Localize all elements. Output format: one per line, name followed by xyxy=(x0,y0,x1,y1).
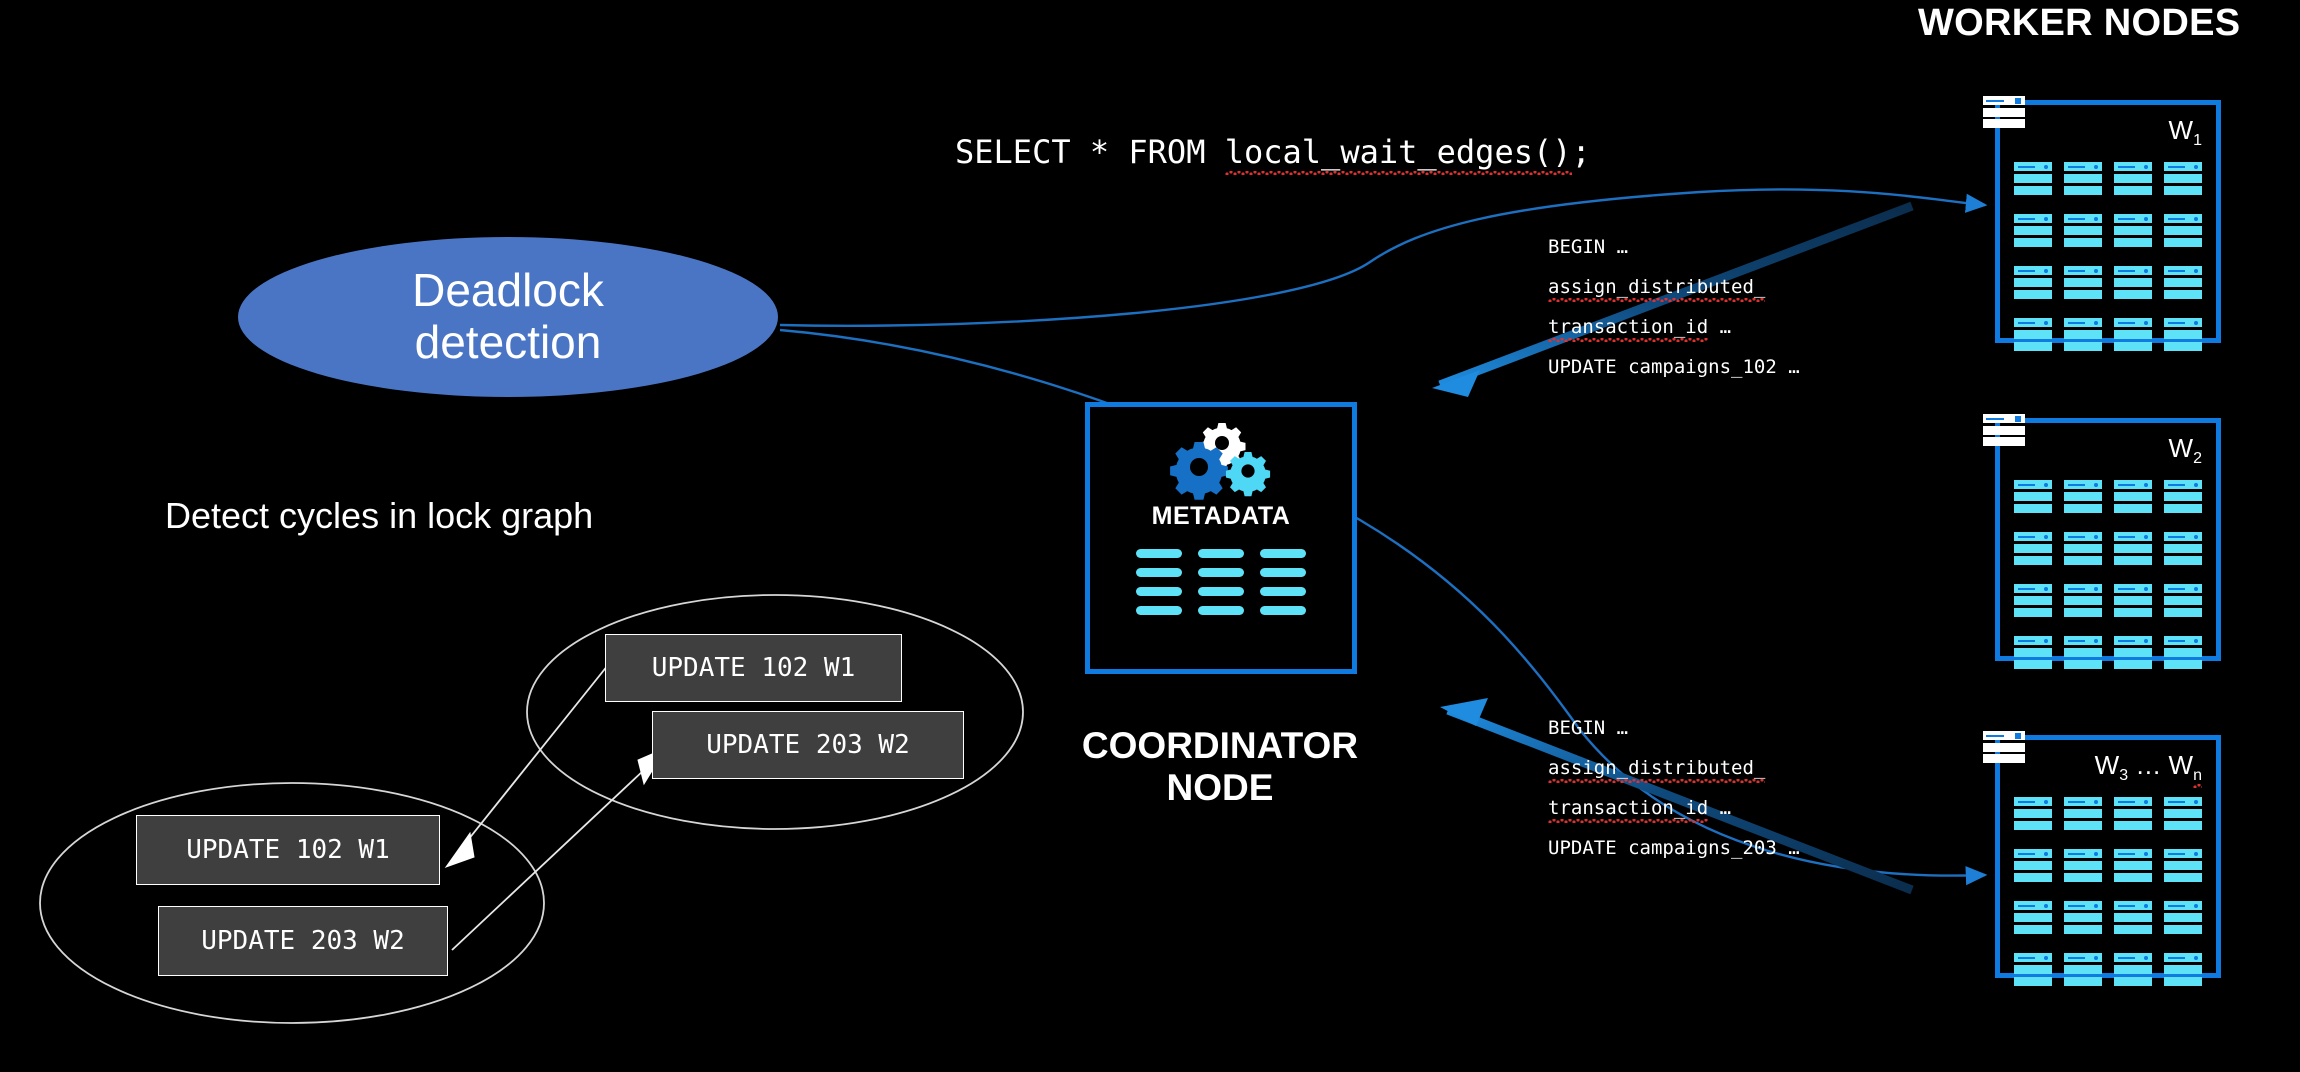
transaction-code-block-1: BEGIN … assign_distributed_ transaction_… xyxy=(1548,227,1800,387)
lock-graph-caption: Detect cycles in lock graph xyxy=(165,495,593,537)
shard xyxy=(2014,849,2052,885)
shard xyxy=(2064,953,2102,989)
shard xyxy=(2114,214,2152,250)
metadata-bar xyxy=(1136,568,1182,577)
shard xyxy=(2114,480,2152,516)
shard xyxy=(2164,162,2202,198)
metadata-bar xyxy=(1260,606,1306,615)
worker-node-3-range: … W xyxy=(2128,750,2193,780)
diagram-canvas: WORKER NODES COORDINATOR NODE SELECT * F… xyxy=(0,0,2300,1072)
shard xyxy=(2014,318,2052,354)
shard xyxy=(2164,584,2202,620)
code-line-begin: BEGIN … xyxy=(1548,708,1800,748)
worker-node-2: W2 xyxy=(1995,418,2221,661)
code-line-assign: assign_distributed_ xyxy=(1548,276,1765,298)
metadata-bar xyxy=(1198,568,1244,577)
metadata-bar xyxy=(1260,587,1306,596)
worker-node-2-label: W2 xyxy=(2169,433,2202,468)
shard xyxy=(2014,266,2052,302)
worker-node-1-shard-grid xyxy=(2014,162,2202,354)
shard xyxy=(2164,480,2202,516)
shard xyxy=(2114,266,2152,302)
shard xyxy=(2114,953,2152,989)
shard xyxy=(2064,318,2102,354)
shard xyxy=(2164,953,2202,989)
metadata-bar xyxy=(1136,606,1182,615)
metadata-bar xyxy=(1260,568,1306,577)
metadata-bars-grid xyxy=(1136,549,1306,615)
cycle-arrow-top-to-bottom xyxy=(446,650,620,867)
metadata-bar xyxy=(1136,587,1182,596)
metadata-bar xyxy=(1198,549,1244,558)
server-stack-icon xyxy=(1983,96,2025,130)
worker-node-3-label: W3 … Wn xyxy=(2095,750,2202,785)
shard xyxy=(2164,636,2202,672)
shard xyxy=(2114,636,2152,672)
worker-node-1-letter: W xyxy=(2169,115,2194,145)
shard xyxy=(2114,584,2152,620)
sql-query-suffix: ; xyxy=(1572,133,1591,171)
shard xyxy=(2064,532,2102,568)
shard xyxy=(2064,584,2102,620)
shard xyxy=(2064,901,2102,937)
worker-node-1: W1 xyxy=(1995,100,2221,343)
code-line-begin: BEGIN … xyxy=(1548,227,1800,267)
lock-graph-box-4-label: UPDATE 203 W2 xyxy=(201,926,405,956)
deadlock-detection-node: Deadlock detection xyxy=(238,237,778,397)
shard xyxy=(2064,214,2102,250)
shard xyxy=(2014,532,2052,568)
lock-graph-box-2-label: UPDATE 203 W2 xyxy=(706,730,910,760)
shard xyxy=(2064,797,2102,833)
shard xyxy=(2164,532,2202,568)
worker-node-1-index: 1 xyxy=(2193,132,2202,149)
shard xyxy=(2164,214,2202,250)
sql-query-prefix: SELECT * FROM xyxy=(955,133,1225,171)
lock-graph-box-1: UPDATE 102 W1 xyxy=(605,634,902,702)
lock-graph-box-2: UPDATE 203 W2 xyxy=(652,711,964,779)
shard xyxy=(2064,266,2102,302)
metadata-bar xyxy=(1136,549,1182,558)
deadlock-detection-line1: Deadlock xyxy=(412,265,604,317)
transaction-code-block-2: BEGIN … assign_distributed_ transaction_… xyxy=(1548,708,1800,868)
sql-query-function: local_wait_edges() xyxy=(1225,133,1572,171)
code-line-txnid-tail: … xyxy=(1708,797,1731,819)
worker-node-2-index: 2 xyxy=(2193,450,2202,467)
curve-to-worker1 xyxy=(780,189,1985,325)
code-line-txnid: transaction_id xyxy=(1548,316,1708,338)
code-line-txnid: transaction_id xyxy=(1548,797,1708,819)
server-stack-icon xyxy=(1983,731,2025,765)
shard xyxy=(2014,214,2052,250)
shard xyxy=(2164,266,2202,302)
worker-nodes-title: WORKER NODES xyxy=(1918,2,2278,45)
coordinator-node-title: COORDINATOR NODE xyxy=(1060,725,1380,809)
metadata-label: METADATA xyxy=(1090,502,1352,531)
gears-icon xyxy=(1156,421,1286,506)
shard xyxy=(2014,953,2052,989)
shard xyxy=(2114,532,2152,568)
cycle-arrow-bottom-to-top xyxy=(452,748,666,950)
coordinator-node-title-line2: NODE xyxy=(1060,767,1380,809)
shard xyxy=(2014,901,2052,937)
code-line-update: UPDATE campaigns_102 … xyxy=(1548,347,1800,387)
shard xyxy=(2064,480,2102,516)
worker-node-2-shard-grid xyxy=(2014,480,2202,672)
shard xyxy=(2164,318,2202,354)
shard xyxy=(2064,162,2102,198)
lock-graph-box-3-label: UPDATE 102 W1 xyxy=(186,835,390,865)
code-line-txnid-tail: … xyxy=(1708,316,1731,338)
worker-node-3-shard-grid xyxy=(2014,797,2202,989)
deadlock-detection-label: Deadlock detection xyxy=(412,265,604,368)
shard xyxy=(2164,797,2202,833)
shard xyxy=(2014,636,2052,672)
deadlock-detection-line2: detection xyxy=(412,317,604,369)
shard xyxy=(2114,849,2152,885)
shard xyxy=(2114,162,2152,198)
curve-to-worker3 xyxy=(780,330,1985,876)
shard xyxy=(2014,480,2052,516)
shard xyxy=(2014,797,2052,833)
metadata-bar xyxy=(1198,606,1244,615)
code-line-update: UPDATE campaigns_203 … xyxy=(1548,828,1800,868)
worker-node-2-letter: W xyxy=(2169,433,2194,463)
sql-query-text: SELECT * FROM local_wait_edges(); xyxy=(955,133,1591,171)
lock-graph-box-1-label: UPDATE 102 W1 xyxy=(652,653,856,683)
worker-node-3-index-end: n xyxy=(2193,767,2202,784)
coordinator-node-box: METADATA xyxy=(1085,402,1357,674)
metadata-bar xyxy=(1260,549,1306,558)
shard xyxy=(2064,636,2102,672)
shard xyxy=(2164,849,2202,885)
shard xyxy=(2114,318,2152,354)
lock-graph-box-3: UPDATE 102 W1 xyxy=(136,815,440,885)
shard xyxy=(2114,901,2152,937)
coordinator-node-title-line1: COORDINATOR xyxy=(1060,725,1380,767)
server-stack-icon xyxy=(1983,414,2025,448)
shard xyxy=(2064,849,2102,885)
worker-node-3: W3 … Wn xyxy=(1995,735,2221,978)
metadata-bar xyxy=(1198,587,1244,596)
worker-node-1-label: W1 xyxy=(2169,115,2202,150)
worker-node-3-index-start: 3 xyxy=(2119,767,2128,784)
shard xyxy=(2014,162,2052,198)
shard xyxy=(2114,797,2152,833)
lock-graph-box-4: UPDATE 203 W2 xyxy=(158,906,448,976)
shard xyxy=(2014,584,2052,620)
code-line-assign: assign_distributed_ xyxy=(1548,757,1765,779)
worker-node-3-letter: W xyxy=(2095,750,2120,780)
shard xyxy=(2164,901,2202,937)
